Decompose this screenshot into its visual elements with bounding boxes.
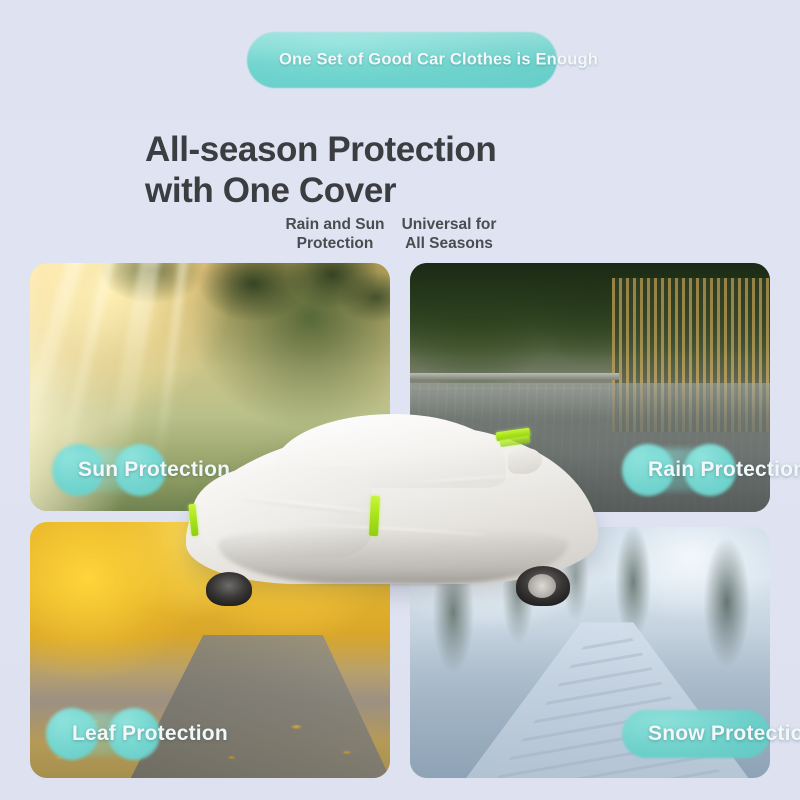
badge-snow-protection[interactable]: Snow Protection <box>622 708 800 760</box>
rear-wheel <box>516 566 570 606</box>
top-banner: One Set of Good Car Clothes is Enough <box>247 32 557 88</box>
front-wheel <box>206 572 252 606</box>
cover-bottom-shading <box>218 528 568 584</box>
badge-label: Rain Protection <box>622 458 800 482</box>
badge-rain-protection[interactable]: Rain Protection <box>622 444 800 496</box>
badge-label: Snow Protection <box>622 722 800 746</box>
badge-label: Leaf Protection <box>46 722 228 746</box>
banner-text: One Set of Good Car Clothes is Enough <box>279 51 598 70</box>
subcaption-rain-sun: Rain and Sun Protection <box>274 215 396 254</box>
guardrail <box>410 373 619 380</box>
car-cover-hero <box>178 408 608 608</box>
promo-canvas: One Set of Good Car Clothes is Enough Al… <box>0 0 800 800</box>
badge-leaf-protection[interactable]: Leaf Protection <box>46 708 228 760</box>
page-title: All-season Protection with One Cover <box>145 130 665 211</box>
subcaption-universal: Universal for All Seasons <box>382 215 516 254</box>
